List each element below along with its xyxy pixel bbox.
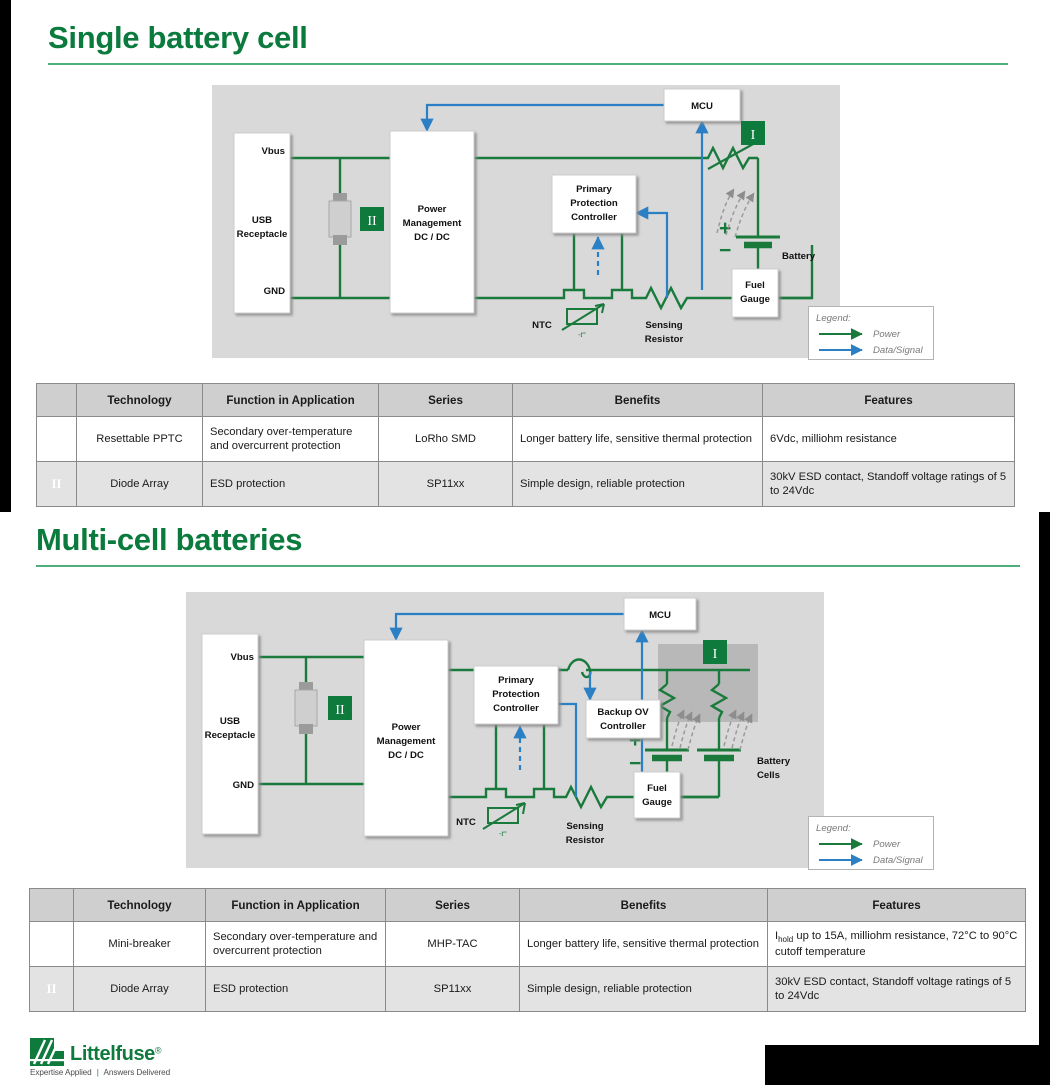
row-benefits: Simple design, reliable protection	[513, 462, 763, 507]
row-marker: II	[37, 462, 77, 507]
fuel-gauge-label-line2: Gauge	[642, 797, 672, 808]
row-marker: II	[30, 967, 74, 1012]
row-technology: Resettable PPTC	[77, 417, 203, 462]
legend-item-signal-1: Data/Signal	[873, 345, 923, 356]
primary-protection-label-line1: Primary	[498, 675, 534, 686]
row-technology: Mini-breaker	[74, 922, 206, 967]
th-benefits-2: Benefits	[520, 889, 768, 922]
diagram-multi-cell-batteries: + − -t°	[186, 592, 824, 868]
legend-svg-1: Legend: Power Data/Signal	[809, 307, 933, 359]
primary-protection-label-line3: Controller	[493, 703, 539, 714]
diagram-single-battery-cell-svg: + − -t°	[212, 85, 840, 358]
row-features-subscript: hold	[778, 935, 793, 944]
row-series: LoRho SMD	[379, 417, 513, 462]
badge-one-label: I	[751, 128, 756, 143]
usb-receptacle-label-line1: USB	[220, 716, 240, 727]
section-single-battery-cell: Single battery cell	[0, 22, 1050, 65]
battery-cells-label-line2: Cells	[757, 770, 780, 781]
backup-ov-label-line1: Backup OV	[597, 707, 649, 718]
row-features: Ihold up to 15A, milliohm resistance, 72…	[768, 922, 1026, 967]
badge-one-label: I	[713, 647, 718, 662]
esd-device-symbol	[295, 682, 317, 734]
row-technology: Diode Array	[74, 967, 206, 1012]
ntc-label: NTC	[532, 320, 552, 331]
fuel-gauge-label-line1: Fuel	[647, 783, 667, 794]
vbus-label: Vbus	[231, 652, 254, 663]
row-features: 30kV ESD contact, Standoff voltage ratin…	[763, 462, 1015, 507]
diagram-single-battery-cell: + − -t°	[212, 85, 840, 358]
battery-label: Battery	[782, 251, 816, 262]
battery-plus-sign: +	[719, 217, 731, 240]
usb-receptacle-label-line2: Receptacle	[205, 730, 256, 741]
table-row: I Resettable PPTC Secondary over-tempera…	[37, 417, 1015, 462]
power-management-label-line2: Management	[377, 736, 436, 747]
sensing-resistor-label-line2: Resistor	[566, 835, 605, 846]
sensing-resistor-label-line1: Sensing	[645, 320, 682, 331]
primary-protection-label-line1: Primary	[576, 184, 612, 195]
mcu-label: MCU	[649, 610, 671, 621]
ntc-temp-label: -t°	[499, 829, 507, 838]
gnd-label: GND	[264, 286, 285, 297]
section-title-single-battery-cell: Single battery cell	[48, 22, 1008, 53]
sensing-resistor-label-line2: Resistor	[645, 334, 684, 345]
th-benefits-1: Benefits	[513, 384, 763, 417]
badge-two-label: II	[335, 703, 345, 718]
tagline-separator: |	[94, 1068, 102, 1077]
usb-receptacle-label-line1: USB	[252, 215, 272, 226]
table-row: I Mini-breaker Secondary over-temperatur…	[30, 922, 1026, 967]
th-function-1: Function in Application	[203, 384, 379, 417]
th-marker-1	[37, 384, 77, 417]
table-header-row: Technology Function in Application Serie…	[37, 384, 1015, 417]
gnd-label: GND	[233, 780, 254, 791]
legend-multi-cell-batteries: Legend: Power Data/Signal	[808, 816, 934, 870]
legend-item-power-1: Power	[873, 329, 901, 340]
th-series-1: Series	[379, 384, 513, 417]
table-row: II Diode Array ESD protection SP11xx Sim…	[30, 967, 1026, 1012]
primary-protection-label-line2: Protection	[570, 198, 618, 209]
row-features: 6Vdc, milliohm resistance	[763, 417, 1015, 462]
esd-device-symbol	[329, 193, 351, 245]
primary-protection-label-line2: Protection	[492, 689, 540, 700]
littelfuse-wordmark: Littelfuse	[70, 1043, 155, 1065]
spec-table-multi-cell-batteries: Technology Function in Application Serie…	[29, 888, 1026, 1012]
row-benefits: Longer battery life, sensitive thermal p…	[513, 417, 763, 462]
section-rule	[36, 565, 1020, 567]
mcu-label: MCU	[691, 101, 713, 112]
th-series-2: Series	[386, 889, 520, 922]
primary-protection-label-line3: Controller	[571, 212, 617, 223]
row-marker: I	[30, 922, 74, 967]
spec-table-single-battery-cell: Technology Function in Application Serie…	[36, 383, 1015, 507]
ntc-label: NTC	[456, 817, 476, 828]
power-management-label-line2: Management	[403, 218, 462, 229]
fuel-gauge-label-line1: Fuel	[745, 280, 765, 291]
row-benefits: Longer battery life, sensitive thermal p…	[520, 922, 768, 967]
row-function: Secondary over-temperature and overcurre…	[206, 922, 386, 967]
bottom-black-bar	[765, 1045, 1039, 1085]
legend-item-power-2: Power	[873, 839, 901, 850]
legend-svg-2: Legend: Power Data/Signal	[809, 817, 933, 869]
row-series: SP11xx	[379, 462, 513, 507]
ntc-temp-label: -t°	[578, 330, 586, 339]
row-function: ESD protection	[206, 967, 386, 1012]
th-technology-1: Technology	[77, 384, 203, 417]
th-function-2: Function in Application	[206, 889, 386, 922]
section-multi-cell-batteries: Multi-cell batteries	[0, 524, 1050, 567]
power-management-label-line1: Power	[392, 722, 421, 733]
th-features-2: Features	[768, 889, 1026, 922]
row-function: Secondary over-temperature and overcurre…	[203, 417, 379, 462]
th-features-1: Features	[763, 384, 1015, 417]
row-features-rest: up to 15A, milliohm resistance, 72°C to …	[775, 930, 1017, 958]
backup-ov-label-line2: Controller	[600, 721, 646, 732]
vbus-label: Vbus	[262, 146, 285, 157]
legend-single-battery-cell: Legend: Power Data/Signal	[808, 306, 934, 360]
tagline-right: Answers Delivered	[104, 1068, 171, 1077]
legend-title-2: Legend:	[816, 823, 851, 834]
legend-title-1: Legend:	[816, 313, 851, 324]
power-management-label-line1: Power	[418, 204, 447, 215]
row-function: ESD protection	[203, 462, 379, 507]
section-rule	[48, 63, 1008, 65]
legend-item-signal-2: Data/Signal	[873, 855, 923, 866]
sensing-resistor-label-line1: Sensing	[566, 821, 603, 832]
th-marker-2	[30, 889, 74, 922]
row-features: 30kV ESD contact, Standoff voltage ratin…	[768, 967, 1026, 1012]
tagline-left: Expertise Applied	[30, 1068, 92, 1077]
row-marker: I	[37, 417, 77, 462]
section-title-multi-cell-batteries: Multi-cell batteries	[36, 524, 1020, 555]
littelfuse-mark-icon	[30, 1038, 64, 1066]
left-black-bar	[0, 0, 11, 512]
row-series: MHP-TAC	[386, 922, 520, 967]
th-technology-2: Technology	[74, 889, 206, 922]
right-black-bar	[1039, 512, 1050, 1085]
fuel-gauge-label-line2: Gauge	[740, 294, 770, 305]
littelfuse-logo: Littelfuse® Expertise Applied | Answers …	[30, 1038, 170, 1077]
registered-mark: ®	[155, 1046, 162, 1056]
table-row: II Diode Array ESD protection SP11xx Sim…	[37, 462, 1015, 507]
diagram-multi-cell-batteries-svg: + − -t°	[186, 592, 824, 868]
row-benefits: Simple design, reliable protection	[520, 967, 768, 1012]
power-management-label-line3: DC / DC	[414, 232, 450, 243]
battery-cells-label-line1: Battery	[757, 756, 791, 767]
row-technology: Diode Array	[77, 462, 203, 507]
power-management-label-line3: DC / DC	[388, 750, 424, 761]
row-series: SP11xx	[386, 967, 520, 1012]
table-header-row: Technology Function in Application Serie…	[30, 889, 1026, 922]
badge-two-label: II	[367, 214, 377, 229]
usb-receptacle-label-line2: Receptacle	[237, 229, 288, 240]
battery-minus-sign: −	[719, 239, 731, 262]
